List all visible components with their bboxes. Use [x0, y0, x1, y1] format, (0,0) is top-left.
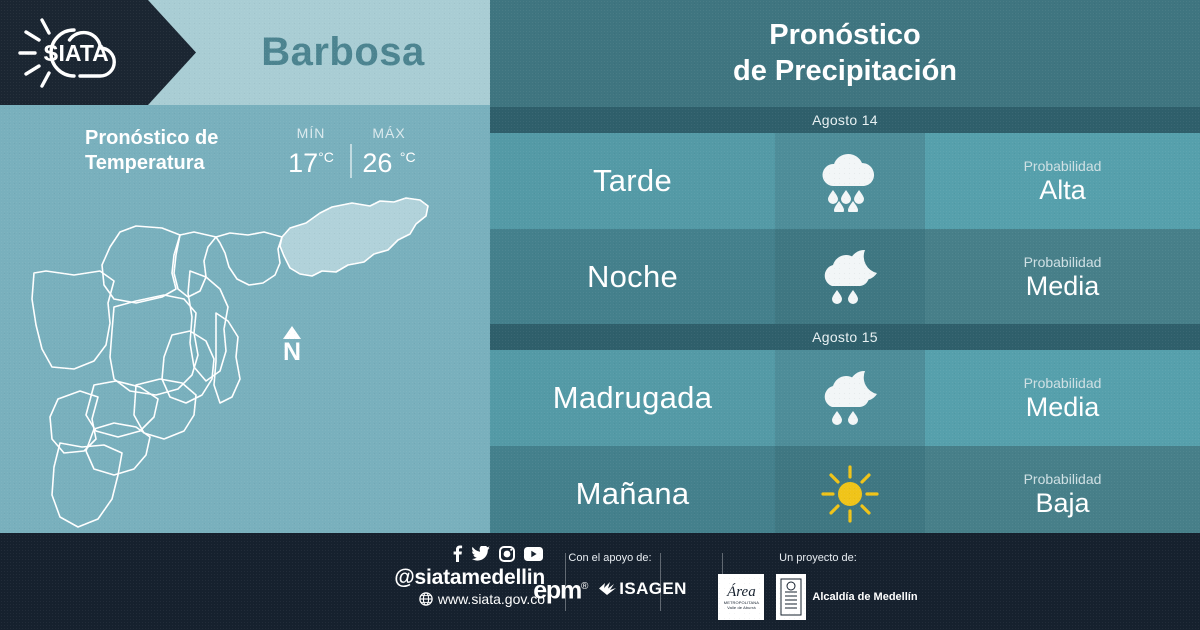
forecast-icon-cell	[775, 133, 925, 229]
temperature-min-label: MÍN	[280, 124, 342, 142]
probability-label: Probabilidad	[1024, 253, 1102, 271]
forecast-row: Mañana Pr	[490, 446, 1200, 542]
min-unit: °C	[318, 149, 334, 165]
alcaldia-crest-icon	[776, 574, 806, 620]
temperature-max: MÁX 26 °C	[358, 124, 420, 178]
sun-cloud-icon: SIATA	[18, 14, 134, 92]
sun-icon	[813, 463, 887, 525]
moon-cloud-rain-icon	[813, 246, 887, 308]
project-block: Un proyecto de: Área METROPOLITANA Valle…	[718, 551, 918, 620]
project-logos: Área METROPOLITANA Valle de Aburrá	[718, 574, 918, 620]
amva-sub-line2: Valle de Aburrá	[727, 605, 756, 610]
alcaldia-shield-icon	[780, 578, 802, 616]
siata-logo-text: SIATA	[43, 40, 109, 66]
map-region-10	[134, 379, 196, 439]
map-region-3	[102, 226, 180, 303]
forecast-title: Pronóstico de Precipitación	[490, 0, 1200, 105]
brand-header: SIATA Barbosa	[0, 0, 490, 105]
map-region-6	[162, 331, 214, 403]
forecast-icon-cell	[775, 229, 925, 325]
date-band-day1: Agosto 14	[490, 107, 1200, 133]
twitter-icon[interactable]	[472, 546, 490, 561]
forecast-title-line2: de Precipitación	[733, 53, 957, 89]
map-region-13	[214, 313, 240, 403]
probability-label: Probabilidad	[1024, 470, 1102, 488]
period-label: Noche	[587, 259, 678, 295]
forecast-period-cell: Noche	[490, 229, 775, 325]
temperature-block: Pronóstico de Temperatura MÍN 17°C MÁX 2…	[85, 124, 415, 186]
temperature-title: Pronóstico de Temperatura	[85, 126, 270, 176]
north-label: N	[272, 340, 312, 365]
forecast-icon-cell	[775, 350, 925, 446]
temperature-min: MÍN 17°C	[280, 124, 342, 178]
infographic-root: SIATA Barbosa Pronóstico de Temperatura …	[0, 0, 1200, 630]
footer: @siatamedellin www.siata.gov.co Con el a…	[0, 533, 1200, 630]
temperature-values: MÍN 17°C MÁX 26 °C	[280, 124, 420, 184]
forecast-probability-cell: Probabilidad Media	[925, 350, 1200, 446]
alcaldia-label: Alcaldía de Medellín	[812, 591, 917, 603]
temperature-max-label: MÁX	[358, 124, 420, 142]
forecast-panel: Pronóstico de Precipitación Agosto 14 Ta…	[490, 0, 1200, 533]
isagen-label: ISAGEN	[619, 579, 687, 599]
globe-icon	[419, 592, 433, 606]
probability-value: Baja	[1035, 488, 1089, 519]
map-region-2	[174, 232, 216, 297]
min-number: 17	[288, 148, 318, 178]
support-block: Con el apoyo de: epm® ISAGEN	[500, 551, 720, 603]
map-region-4	[32, 271, 114, 369]
amva-logo: Área METROPOLITANA Valle de Aburrá	[718, 574, 764, 620]
support-logos: epm® ISAGEN	[500, 574, 720, 603]
forecast-period-cell: Mañana	[490, 446, 775, 542]
temperature-min-value: 17°C	[280, 142, 342, 178]
temperature-divider	[350, 144, 352, 178]
forecast-row: Noche Probabilidad Media	[490, 229, 1200, 325]
moon-cloud-rain-icon	[813, 367, 887, 429]
map-region-highlight	[280, 198, 428, 276]
map-region-11	[52, 443, 122, 527]
city-name: Barbosa	[196, 0, 490, 105]
probability-value: Media	[1026, 271, 1100, 302]
rain-cloud-icon	[813, 150, 887, 212]
max-number: 26	[362, 148, 392, 178]
footer-divider	[660, 553, 661, 611]
temperature-max-value: 26 °C	[358, 142, 420, 178]
alcaldia-logo: Alcaldía de Medellín	[776, 574, 917, 620]
period-label: Madrugada	[553, 380, 713, 416]
max-unit: °C	[400, 149, 416, 165]
forecast-title-line1: Pronóstico	[769, 17, 920, 53]
forecast-period-cell: Madrugada	[490, 350, 775, 446]
isagen-logo: ISAGEN	[599, 579, 687, 599]
temperature-title-line1: Pronóstico de	[85, 126, 270, 151]
facebook-icon[interactable]	[452, 545, 463, 562]
forecast-probability-cell: Probabilidad Alta	[925, 133, 1200, 229]
forecast-row: Madrugada Probabilidad Media	[490, 350, 1200, 446]
compass-north: N	[272, 326, 312, 365]
project-caption: Un proyecto de:	[718, 551, 918, 565]
probability-label: Probabilidad	[1024, 157, 1102, 175]
forecast-probability-cell: Probabilidad Media	[925, 229, 1200, 325]
probability-label: Probabilidad	[1024, 374, 1102, 392]
epm-label: epm	[533, 576, 581, 604]
map-svg	[20, 185, 470, 530]
period-label: Tarde	[593, 163, 672, 199]
support-caption: Con el apoyo de:	[500, 551, 720, 565]
left-panel: SIATA Barbosa Pronóstico de Temperatura …	[0, 0, 490, 533]
siata-logo-chevron: SIATA	[0, 0, 196, 105]
probability-value: Alta	[1039, 175, 1086, 206]
forecast-icon-cell	[775, 446, 925, 542]
forecast-period-cell: Tarde	[490, 133, 775, 229]
forecast-row: Tarde Probabilidad Alta	[490, 133, 1200, 229]
date-band-day2: Agosto 15	[490, 324, 1200, 350]
amva-name: Área	[727, 585, 756, 600]
map-region-1	[216, 232, 282, 285]
forecast-probability-cell: Probabilidad Baja	[925, 446, 1200, 542]
epm-logo: epm®	[533, 574, 587, 603]
temperature-title-line2: Temperatura	[85, 151, 270, 176]
municipality-map	[20, 185, 470, 530]
isagen-mark-icon	[599, 581, 616, 596]
period-label: Mañana	[576, 476, 690, 512]
probability-value: Media	[1026, 392, 1100, 423]
